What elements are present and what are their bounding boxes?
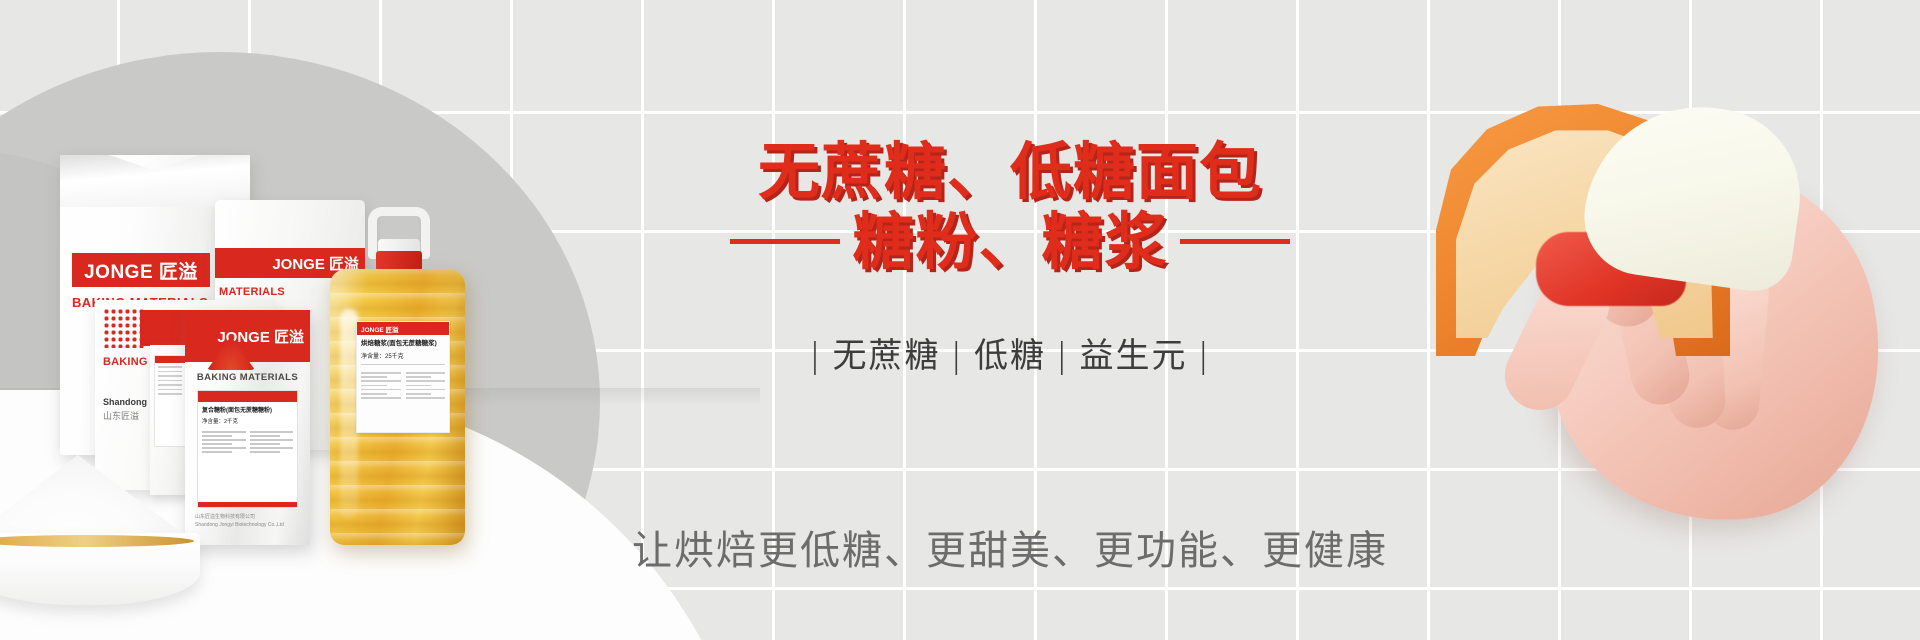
product-syrup-jug: JONGE 匠溢 烘焙糖浆(面包无蔗糖糖浆) 净含量：25千克 — [330, 245, 465, 545]
brand-logo-text: JONGE 匠溢 — [84, 257, 198, 284]
sugar-bowl — [0, 455, 200, 605]
label-line — [158, 384, 182, 386]
baking-materials-label: BAKING MATERIALS — [197, 372, 298, 383]
brand-logo-bar: JONGE 匠溢 — [72, 253, 210, 287]
label-line — [361, 380, 401, 382]
label-divider — [361, 364, 445, 365]
bread-slice — [1440, 106, 1800, 356]
copy-block: 无蔗糖、低糖面包 糖粉、糖浆 |无蔗糖|低糖|益生元| 让烘焙更低糖、更甜美、更… — [640, 0, 1380, 640]
mini-box-label — [154, 355, 186, 447]
label-line — [406, 380, 446, 382]
brand-logo-text: JONGE 匠溢 — [361, 324, 399, 334]
tag-prebiotic: 益生元 — [1079, 336, 1187, 376]
label-line — [250, 431, 294, 433]
label-line — [406, 397, 446, 399]
jug-info-label: JONGE 匠溢 烘焙糖浆(面包无蔗糖糖浆) 净含量：25千克 — [356, 321, 450, 433]
label-line — [406, 372, 446, 374]
nutrition-table — [198, 425, 297, 459]
nutrition-column — [361, 369, 401, 401]
label-line — [361, 393, 387, 395]
label-line — [361, 376, 387, 378]
tag-no-sucrose: 无蔗糖 — [833, 336, 941, 376]
company-name-en: Shandong Jongyi Biotechnology Co.,Ltd — [195, 522, 284, 528]
pixel-pattern-icon — [103, 308, 145, 348]
pouch-footer: 山东匠溢生物科技有限公司 Shandong Jongyi Biotechnolo… — [195, 513, 284, 529]
tag-separator: | — [1056, 336, 1069, 376]
pouch-label-title: 复合糖粉(面包无蔗糖糖粉) — [198, 402, 297, 415]
label-line — [361, 372, 401, 374]
feature-tags: |无蔗糖|低糖|益生元| — [640, 328, 1380, 377]
promo-banner: JONGE 匠溢 BAKING MATERIALS JONGE 匠溢 MATER… — [0, 0, 1920, 640]
jug-label-title: 烘焙糖浆(面包无蔗糖糖浆) — [357, 335, 449, 348]
label-red-strip — [198, 391, 297, 402]
label-bottom-strip — [198, 502, 297, 507]
label-line — [202, 443, 232, 445]
label-line — [158, 366, 182, 368]
baking-materials-label: MATERIALS — [219, 286, 285, 298]
jug-body: JONGE 匠溢 烘焙糖浆(面包无蔗糖糖浆) 净含量：25千克 — [330, 269, 465, 545]
carton-company-info: Shandong 山东匠溢 — [103, 396, 147, 423]
label-line — [361, 389, 401, 391]
label-line — [406, 376, 432, 378]
nutrition-column — [250, 429, 294, 455]
tag-separator: | — [1197, 336, 1210, 376]
pouch-label-weight: 净含量：2千克 — [198, 415, 297, 425]
label-line — [250, 443, 280, 445]
company-name-cn: 山东匠溢 — [103, 411, 139, 421]
rule-left — [730, 239, 840, 244]
bread-in-hand-image — [1430, 70, 1920, 550]
tag-separator: | — [951, 336, 964, 376]
jug-label-weight: 净含量：25千克 — [357, 348, 449, 360]
product-foil-pouch: JONGE 匠溢 BAKING MATERIALS 复合糖粉(面包无蔗糖糖粉) … — [185, 310, 310, 545]
rule-right — [1180, 239, 1290, 244]
pouch-info-label: 复合糖粉(面包无蔗糖糖粉) 净含量：2千克 — [197, 390, 298, 508]
label-red-strip: JONGE 匠溢 — [357, 322, 449, 335]
headline-line-2-row: 糖粉、糖浆 — [640, 210, 1380, 273]
nutrition-table — [357, 369, 449, 401]
label-line — [250, 435, 280, 437]
tagline: 让烘焙更低糖、更甜美、更功能、更健康 — [530, 518, 1490, 576]
label-line — [158, 380, 182, 382]
label-line — [361, 385, 387, 387]
label-line — [406, 393, 432, 395]
label-line — [406, 389, 446, 391]
label-line — [361, 397, 401, 399]
pouch-red-header: JONGE 匠溢 — [185, 310, 310, 362]
tag-separator: | — [809, 336, 822, 376]
company-name-cn: 山东匠溢生物科技有限公司 — [195, 514, 255, 520]
label-line — [158, 393, 182, 395]
label-red-strip — [155, 356, 185, 363]
label-line — [202, 439, 246, 441]
headline-line-1: 无蔗糖、低糖面包 — [640, 140, 1380, 203]
label-line — [406, 385, 432, 387]
nutrition-column — [406, 369, 446, 401]
company-name-en: Shandong — [103, 397, 147, 407]
label-line — [158, 371, 182, 373]
label-line — [202, 431, 246, 433]
headline-line-2: 糖粉、糖浆 — [852, 210, 1167, 273]
jug-cap — [376, 251, 422, 271]
label-line — [202, 435, 232, 437]
label-line — [250, 439, 294, 441]
label-line — [202, 451, 232, 453]
label-line — [202, 447, 246, 449]
label-line — [158, 389, 182, 391]
label-line — [158, 375, 182, 377]
tag-low-sugar: 低糖 — [974, 336, 1046, 376]
nutrition-column — [202, 429, 246, 455]
label-line — [250, 451, 280, 453]
label-line — [250, 447, 294, 449]
